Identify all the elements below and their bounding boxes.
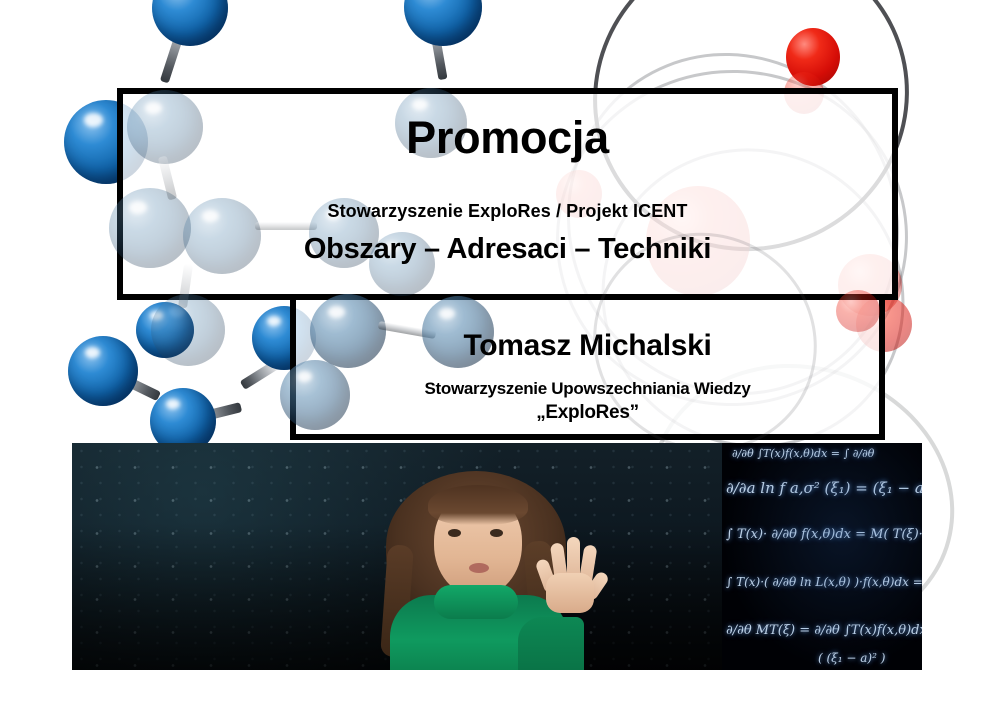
- photo-girl: [368, 467, 584, 670]
- girl-palm: [546, 573, 594, 613]
- author-name: Tomasz Michalski: [296, 328, 879, 364]
- girl-fringe: [428, 485, 528, 525]
- author-textbox: Tomasz Michalski Stowarzyszenie Upowszec…: [290, 300, 885, 440]
- molecule-sphere-blue: [152, 0, 228, 46]
- equation-line: ∂/∂a ln f a,σ² (ξ₁) = (ξ₁ − a)/σ²: [726, 479, 922, 497]
- molecule-sphere-blue: [404, 0, 482, 46]
- molecule-sphere-blue: [68, 336, 138, 406]
- molecule-sphere-blue: [151, 294, 225, 366]
- girl-eye-left: [448, 529, 461, 537]
- slide-bottom-margin: [0, 670, 992, 701]
- girl-raised-hand: [538, 537, 600, 611]
- girl-eye-right: [490, 529, 503, 537]
- girl-arm: [518, 617, 584, 670]
- chalkboard-equations: ∂/∂θ ∫T(x)f(x,θ)dx = ∫ ∂/∂θ ∂/∂a ln f a,…: [722, 443, 922, 670]
- bottom-photo: ∂/∂θ ∫T(x)f(x,θ)dx = ∫ ∂/∂θ ∂/∂a ln f a,…: [72, 443, 922, 670]
- equation-line: ∂/∂θ MT(ξ) = ∂/∂θ ∫T(x)f(x,θ)dx: [726, 623, 922, 638]
- atom-sphere-red: [836, 290, 880, 332]
- girl-collar: [434, 585, 518, 619]
- presentation-slide: Promocja Stowarzyszenie ExploRes / Proje…: [0, 0, 992, 701]
- equation-line: ∫ T(x)· ∂/∂θ f(x,θ)dx = M( T(ξ)· ∂/∂θ ln…: [726, 527, 922, 542]
- slide-subtitle: Stowarzyszenie ExploRes / Projekt ICENT: [123, 200, 892, 222]
- equation-line: ( (ξ₁ − a)² ): [818, 651, 885, 665]
- author-organization-line1: Stowarzyszenie Upowszechniania Wiedzy: [296, 378, 879, 399]
- equation-line: ∂/∂θ ∫T(x)f(x,θ)dx = ∫ ∂/∂θ: [732, 447, 874, 460]
- girl-mouth: [469, 563, 489, 573]
- molecule-bond: [255, 222, 317, 230]
- slide-title: Promocja: [123, 112, 892, 164]
- author-organization-line2: „ExploRes”: [296, 401, 879, 425]
- equation-line: ∫ T(x)·( ∂/∂θ ln L(x,θ) )·f(x,θ)dx = ∫T(…: [726, 575, 922, 589]
